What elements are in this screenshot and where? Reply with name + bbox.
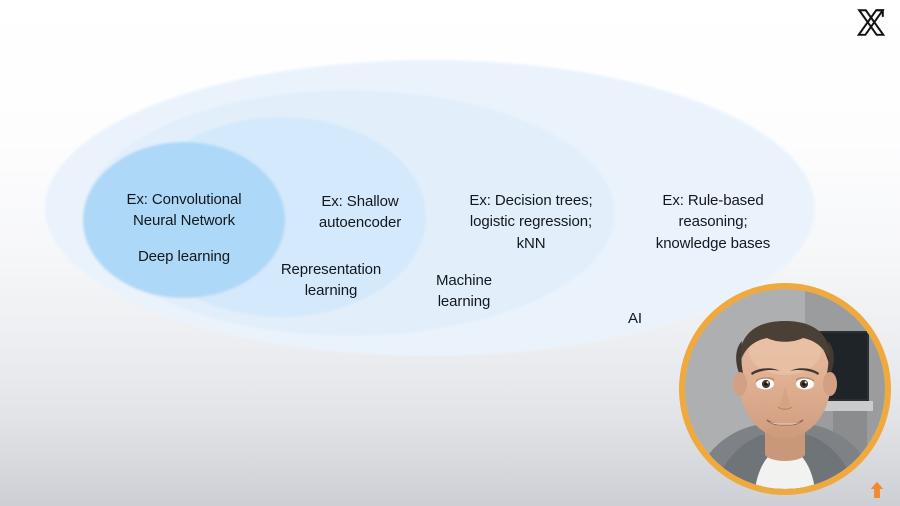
- stylized-x-logo-icon: [854, 6, 888, 40]
- presenter-webcam-video: [685, 289, 885, 489]
- up-arrow-glyph: [868, 480, 886, 500]
- stylized-x-logo: [854, 6, 888, 40]
- presenter-webcam[interactable]: [679, 283, 891, 495]
- presenter-portrait: [685, 289, 885, 489]
- slide-canvas: Ex: Convolutional Neural Network Deep le…: [0, 0, 900, 506]
- ellipse-deep-learning: [83, 142, 285, 298]
- up-arrow-icon[interactable]: [868, 480, 886, 500]
